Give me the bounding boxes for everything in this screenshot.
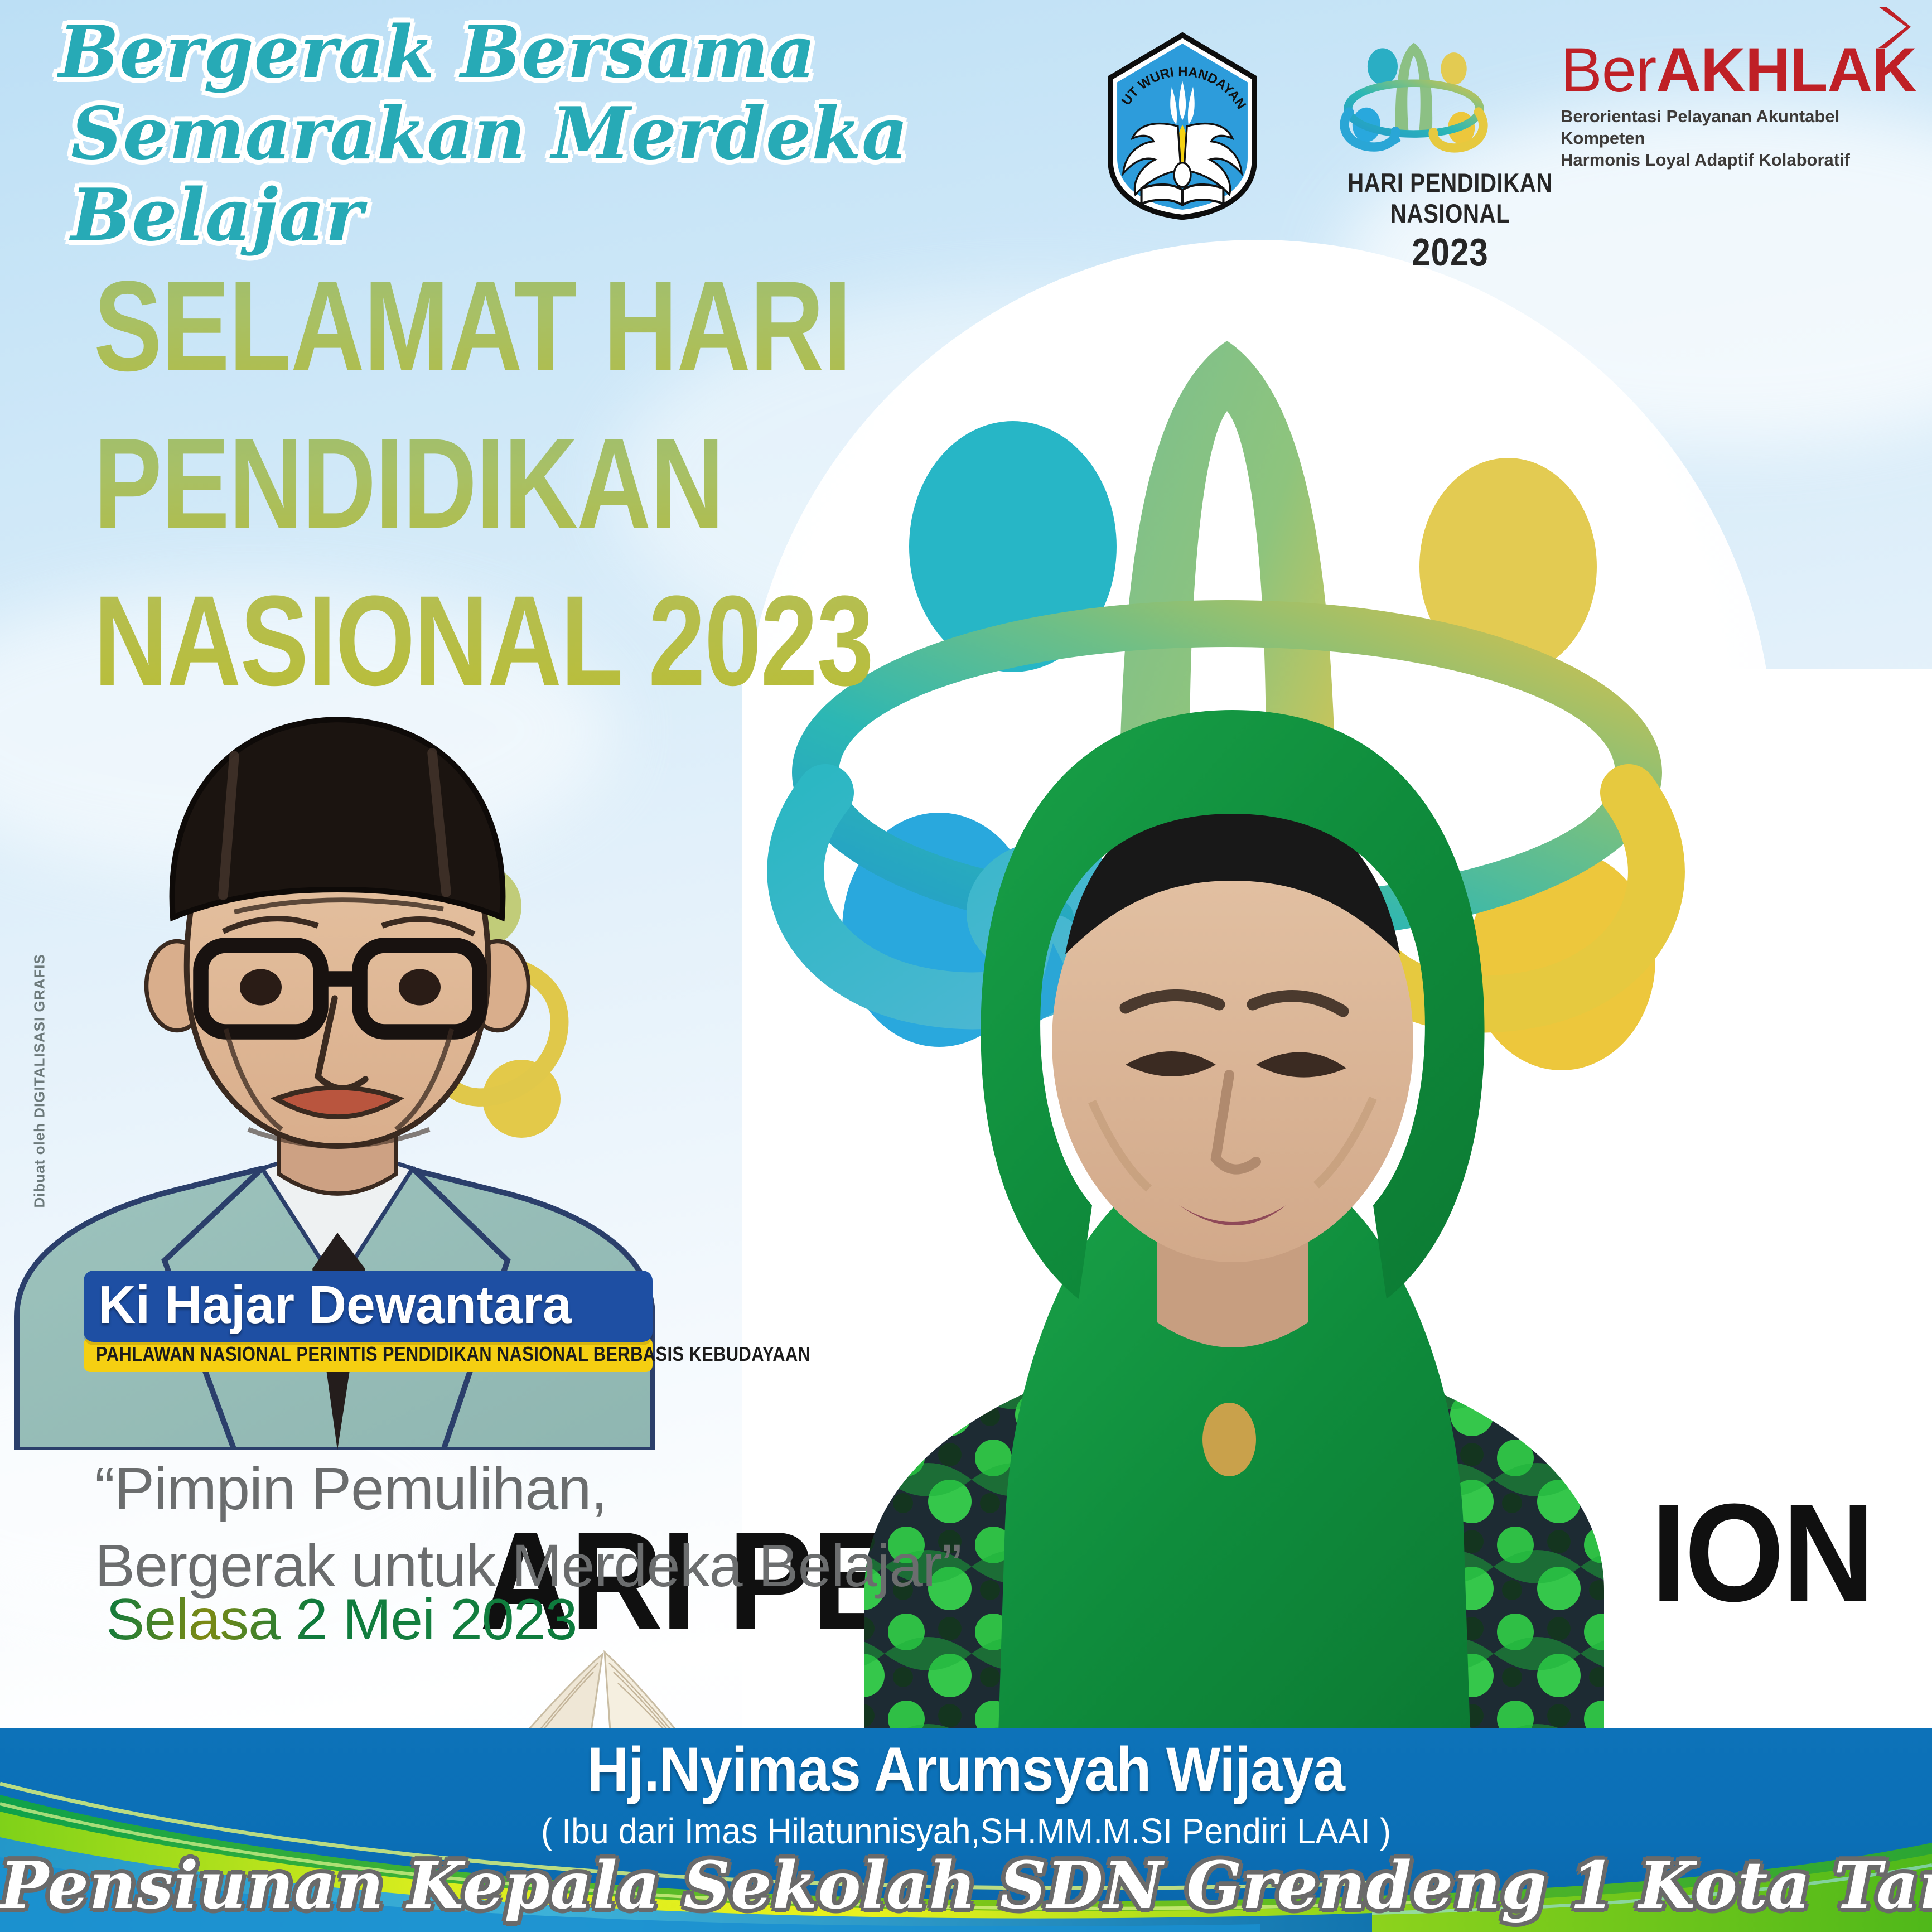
speaker-name: Hj.Nyimas Arumsyah Wijaya xyxy=(78,1738,1855,1801)
speaker-name-block: Hj.Nyimas Arumsyah Wijaya ( Ibu dari Ima… xyxy=(0,1738,1932,1852)
poster-canvas: ARI PE ION xyxy=(0,0,1932,1932)
illustration-credit: Dibuat oleh DIGITALISASI GRAFIS xyxy=(31,1080,49,1208)
hero-name-plate: PAHLAWAN NASIONAL PERINTIS PENDIDIKAN NA… xyxy=(84,1294,653,1372)
quote-line1: “Pimpin Pemulihan, xyxy=(95,1455,607,1522)
bottom-banner: Hj.Nyimas Arumsyah Wijaya ( Ibu dari Ima… xyxy=(0,1728,1932,1932)
hardiknas-caption-line2: 2023 xyxy=(1321,230,1580,274)
kemendikbud-emblem-icon: TUT WURI HANDAYANI xyxy=(1096,31,1269,220)
event-date: Selasa 2 Mei 2023 xyxy=(106,1587,577,1653)
berakhlak-prefix: Ber xyxy=(1561,35,1656,105)
header-script-line1: Bergerak Bersama xyxy=(59,11,816,94)
headline-line1: SELAMAT HARI xyxy=(94,262,873,390)
hero-name-title-bar: Ki Hajar Dewantara xyxy=(84,1271,653,1342)
berakhlak-subtext: Berorientasi Pelayanan Akuntabel Kompete… xyxy=(1561,106,1917,171)
background-wordmark-right: ION xyxy=(1651,1472,1873,1632)
speaker-relation: ( Ibu dari Imas Hilatunnisyah,SH.MM.M.SI… xyxy=(49,1810,1884,1852)
berakhlak-sub-line1: Berorientasi Pelayanan Akuntabel Kompete… xyxy=(1561,106,1917,149)
header-script-title: Bergerak Bersama Semarakan Merdeka Belaj… xyxy=(59,12,1107,257)
berakhlak-sub-line2: Harmonis Loyal Adaptif Kolaboratif xyxy=(1561,149,1917,171)
hero-name-subtitle-2: PAHLAWAN NASIONAL PERINTIS PENDIDIKAN NA… xyxy=(96,1344,564,1364)
hardiknas-mini-caption: HARI PENDIDIKAN NASIONAL 2023 xyxy=(1300,167,1601,274)
hero-name-subtitle-bar-2: PAHLAWAN NASIONAL PERINTIS PENDIDIKAN NA… xyxy=(84,1337,653,1372)
hardiknas-mini-logo-icon xyxy=(1333,31,1495,176)
chevron-right-icon xyxy=(1874,4,1913,50)
header-script-line2: Semarakan Merdeka Belajar xyxy=(71,94,1107,257)
berakhlak-wordmark: BerAKHLAK xyxy=(1561,39,1916,102)
hardiknas-caption-line1: HARI PENDIDIKAN NASIONAL xyxy=(1321,167,1580,229)
headline-line2: PENDIDIKAN xyxy=(94,419,873,548)
speaker-role: Pensiunan Kepala Sekolah SDN Grendeng 1 … xyxy=(0,1848,1932,1924)
quote-block: “Pimpin Pemulihan, Bergerak untuk Merdek… xyxy=(95,1450,965,1604)
page-title: SELAMAT HARI PENDIDIKAN NASIONAL 2023 xyxy=(94,262,873,734)
hero-name-title: Ki Hajar Dewantara xyxy=(98,1278,622,1332)
berakhlak-logo: BerAKHLAK Berorientasi Pelayanan Akuntab… xyxy=(1561,39,1917,171)
